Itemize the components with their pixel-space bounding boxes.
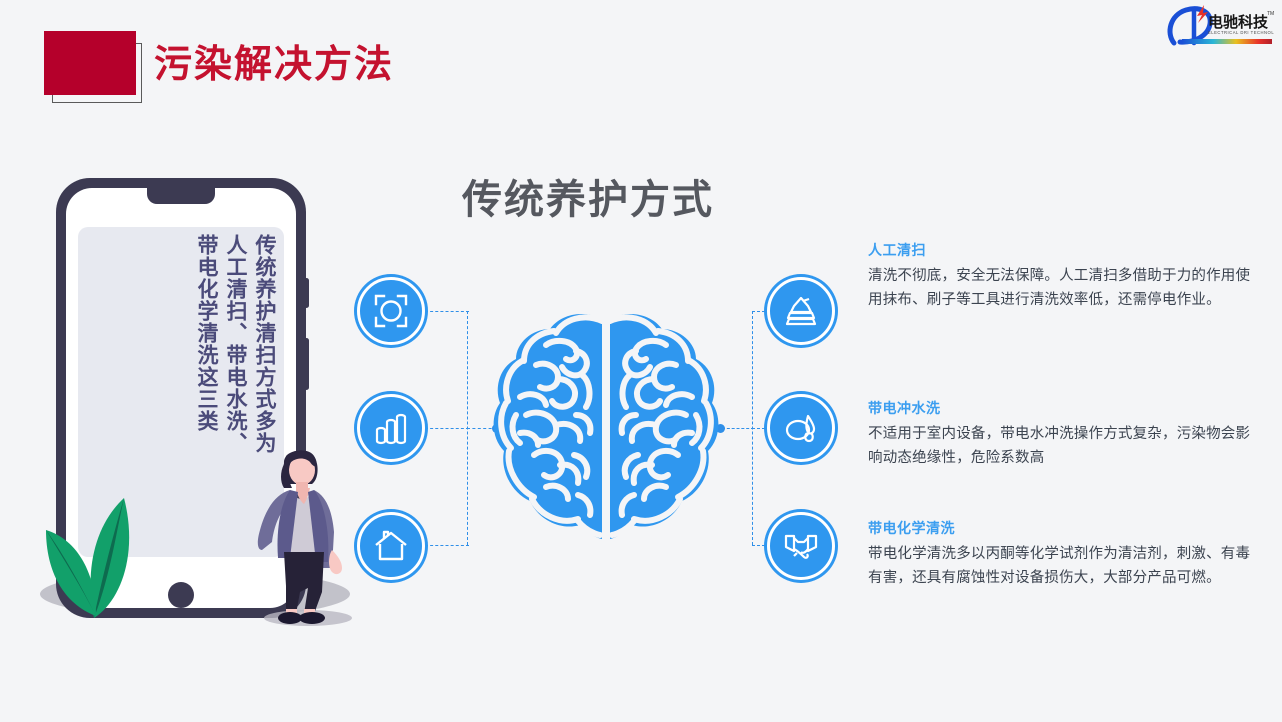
phone-vertical-line-2: 人工清扫、带电水洗、 bbox=[222, 234, 249, 454]
handshake-icon[interactable] bbox=[767, 512, 835, 580]
logo-tm-mark: TM bbox=[1267, 11, 1274, 17]
company-logo: 电驰科技 ELECTRICAL DRI TECHNOLOGY TM bbox=[1164, 3, 1274, 49]
page-title: 污染解决方法 bbox=[154, 42, 394, 88]
leaf-front-icon bbox=[42, 522, 108, 627]
title-filled-square bbox=[44, 31, 136, 95]
info-block-1: 人工清扫 清洗不彻底，安全无法保障。人工清扫多借助于力的作用使用抹布、刷子等工具… bbox=[868, 240, 1258, 312]
connector-right-to-brain bbox=[722, 428, 754, 429]
logo-en-name: ELECTRICAL DRI TECHNOLOGY bbox=[1208, 30, 1274, 35]
phone-vertical-line-3: 带电化学清洗这三类 bbox=[193, 234, 220, 432]
home-icon[interactable] bbox=[357, 512, 425, 580]
phone-side-button-bottom[interactable] bbox=[304, 338, 309, 390]
section-heading: 传统养护方式 bbox=[462, 167, 714, 225]
info-block-2: 带电冲水洗 不适用于室内设备，带电水冲洗操作方式复杂，污染物会影响动态绝缘性，危… bbox=[868, 398, 1258, 470]
brain-illustration bbox=[486, 305, 726, 560]
water-spray-icon[interactable] bbox=[767, 394, 835, 462]
phone-notch bbox=[147, 188, 215, 204]
connector-left-branch-3 bbox=[425, 545, 469, 546]
connector-left-branch-1 bbox=[425, 311, 469, 312]
person-illustration bbox=[246, 446, 354, 631]
svg-text:TM: TM bbox=[1267, 11, 1274, 17]
info-block-3-heading: 带电化学清洗 bbox=[868, 518, 1258, 538]
slide-header: 污染解决方法 bbox=[0, 0, 1282, 130]
connector-left-branch-2 bbox=[425, 428, 469, 429]
phone-vertical-line-1: 传统养护清扫方式多为 bbox=[251, 234, 278, 454]
info-block-3: 带电化学清洗 带电化学清洗多以丙酮等化学试剂作为清洁剂，刺激、有毒有害，还具有腐… bbox=[868, 518, 1258, 590]
logo-rainbow-bar bbox=[1182, 39, 1272, 44]
slide-canvas: 污染解决方法 电驰科技 ELECTRICAL DRI TECHNOLOGY TM bbox=[0, 0, 1282, 722]
info-block-2-body: 不适用于室内设备，带电水冲洗操作方式复杂，污染物会影响动态绝缘性，危险系数高 bbox=[868, 422, 1258, 470]
info-block-1-heading: 人工清扫 bbox=[868, 240, 1258, 260]
phone-home-button[interactable] bbox=[168, 582, 194, 608]
focus-frame-icon[interactable] bbox=[357, 277, 425, 345]
svg-text:电驰科技: 电驰科技 bbox=[1208, 13, 1269, 31]
info-block-1-body: 清洗不彻底，安全无法保障。人工清扫多借助于力的作用使用抹布、刷子等工具进行清洗效… bbox=[868, 264, 1258, 312]
logo-cn-name: 电驰科技 bbox=[1208, 13, 1269, 31]
info-block-2-heading: 带电冲水洗 bbox=[868, 398, 1258, 418]
bar-chart-icon[interactable] bbox=[357, 394, 425, 462]
svg-text:ELECTRICAL DRI TECHNOLOGY: ELECTRICAL DRI TECHNOLOGY bbox=[1208, 30, 1274, 35]
info-block-3-body: 带电化学清洗多以丙酮等化学试剂作为清洁剂，刺激、有毒有害，还具有腐蚀性对设备损伤… bbox=[868, 542, 1258, 590]
phone-mockup: 传统养护清扫方式多为 人工清扫、带电水洗、 带电化学清洗这三类 bbox=[30, 170, 360, 650]
stacked-layers-icon[interactable] bbox=[767, 277, 835, 345]
phone-side-button-top[interactable] bbox=[304, 278, 309, 308]
